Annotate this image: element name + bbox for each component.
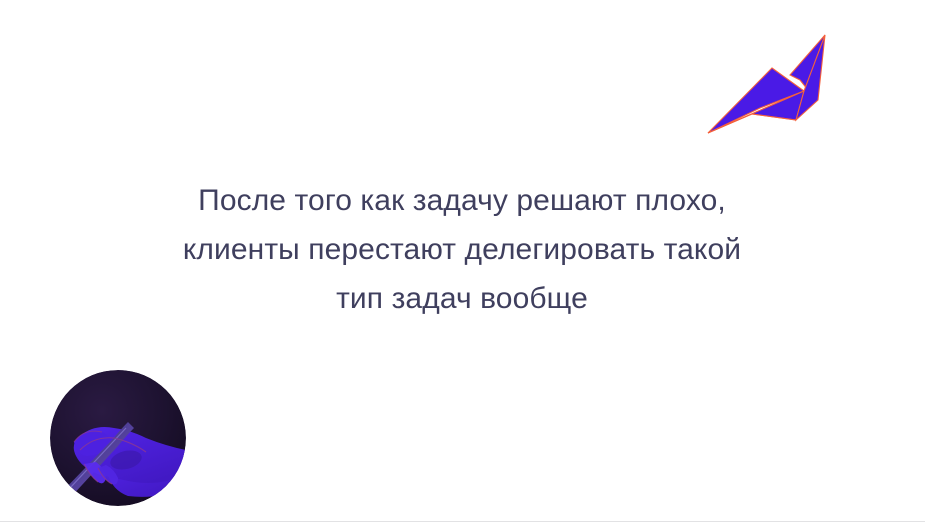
bottom-divider bbox=[0, 521, 925, 522]
hand-writing-pen-svg bbox=[50, 370, 186, 506]
paper-plane-wing-left bbox=[708, 68, 804, 133]
hand-writing-pen-icon bbox=[50, 370, 186, 506]
paper-plane-icon bbox=[700, 28, 832, 140]
paper-plane-crease-lower bbox=[708, 114, 752, 133]
paper-plane-panel-right bbox=[796, 35, 825, 120]
paper-plane-svg bbox=[700, 28, 832, 140]
pen-nib bbox=[56, 492, 70, 502]
paper-plane-fin-right bbox=[790, 35, 825, 90]
paper-plane-crease-tail bbox=[752, 114, 796, 120]
headline-text: После того как задачу решают плохо, клие… bbox=[162, 176, 762, 323]
slide-canvas: После того как задачу решают плохо, клие… bbox=[0, 0, 925, 526]
paper-plane-crease-main bbox=[708, 91, 804, 133]
paper-plane-body bbox=[708, 91, 804, 133]
